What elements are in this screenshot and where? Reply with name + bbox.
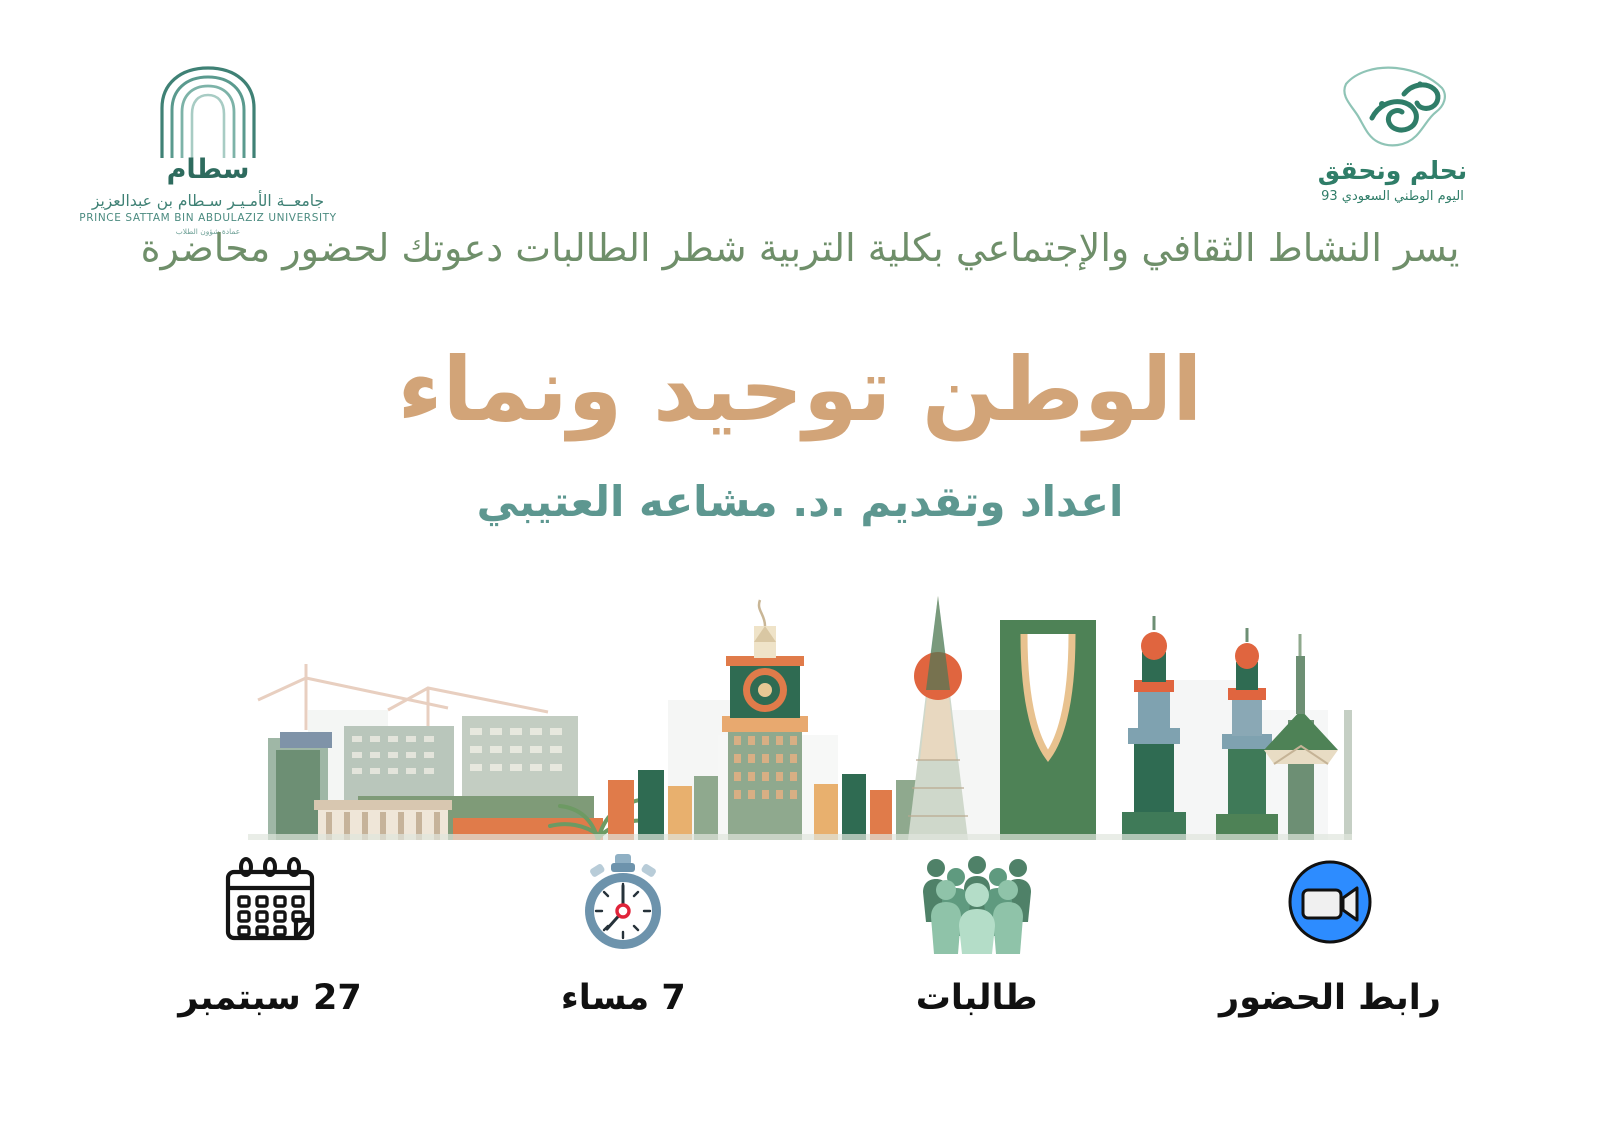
saudi-cityscape-illustration bbox=[248, 560, 1352, 840]
event-time-item: 7 مساء bbox=[473, 848, 773, 1018]
page-title: الوطن توحيد ونماء bbox=[0, 338, 1600, 441]
presenter-name: اعداد وتقديم .د. مشاعه العتيبي bbox=[0, 477, 1600, 526]
video-camera-icon[interactable] bbox=[1180, 848, 1480, 956]
mosque-arch-icon bbox=[78, 62, 338, 158]
calendar-icon bbox=[120, 848, 420, 956]
people-group-icon bbox=[827, 848, 1127, 956]
prince-sattam-university-logo: سطام جامعــة الأمـيـر سـطام بن عبدالعزيز… bbox=[78, 62, 338, 236]
event-details-row: 27 سبتمبر bbox=[120, 848, 1480, 1048]
event-audience-label: طالبات bbox=[827, 978, 1127, 1018]
event-date-item: 27 سبتمبر bbox=[120, 848, 420, 1018]
event-audience-item: طالبات bbox=[827, 848, 1127, 1018]
university-wordmark: سطام bbox=[78, 154, 338, 185]
attendance-link-item[interactable]: رابط الحضور bbox=[1180, 848, 1480, 1018]
attendance-link-label[interactable]: رابط الحضور bbox=[1180, 978, 1480, 1018]
saudi-map-calligraphy-icon bbox=[1275, 58, 1510, 154]
stopwatch-icon bbox=[473, 848, 773, 956]
national-day-title: نحلم ونحقق bbox=[1275, 156, 1510, 185]
university-english-name: PRINCE SATTAM BIN ABDULAZIZ UNIVERSITY bbox=[78, 212, 338, 224]
event-date-label: 27 سبتمبر bbox=[120, 978, 420, 1018]
event-time-label: 7 مساء bbox=[473, 978, 773, 1018]
university-arabic-name: جامعــة الأمـيـر سـطام بن عبدالعزيز bbox=[78, 192, 338, 210]
invitation-line: يسر النشاط الثقافي والإجتماعي بكلية التر… bbox=[0, 226, 1600, 270]
saudi-national-day-93-logo: نحلم ونحقق اليوم الوطني السعودي 93 bbox=[1275, 58, 1510, 204]
event-poster: سطام جامعــة الأمـيـر سـطام بن عبدالعزيز… bbox=[0, 0, 1600, 1131]
national-day-subtitle: اليوم الوطني السعودي 93 bbox=[1275, 189, 1510, 204]
